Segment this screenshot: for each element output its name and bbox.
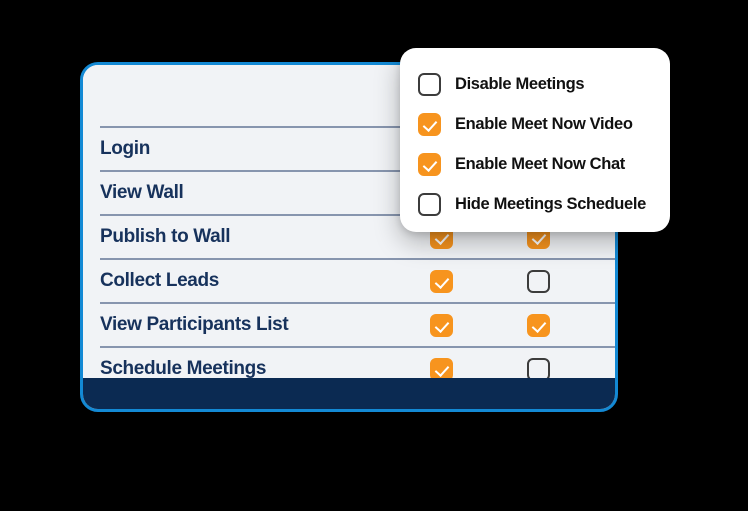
checkbox-checked-icon[interactable]: [527, 314, 550, 337]
row-label: Login: [100, 127, 393, 171]
popup-option-row[interactable]: Enable Meet Now Chat: [400, 144, 670, 184]
popup-option-row[interactable]: Disable Meetings: [400, 64, 670, 104]
permission-cell[interactable]: [393, 303, 491, 347]
checkbox-unchecked-icon[interactable]: [418, 193, 441, 216]
popup-option-label: Hide Meetings Scheduele: [455, 195, 646, 214]
popup-option-row[interactable]: Enable Meet Now Video: [400, 104, 670, 144]
checkbox-checked-icon[interactable]: [430, 314, 453, 337]
checkbox-unchecked-icon[interactable]: [418, 73, 441, 96]
permission-cell[interactable]: [490, 303, 588, 347]
row-label: View Wall: [100, 171, 393, 215]
row-label: Collect Leads: [100, 259, 393, 303]
checkbox-checked-icon[interactable]: [418, 153, 441, 176]
permission-cell[interactable]: [490, 259, 588, 303]
row-label: View Participants List: [100, 303, 393, 347]
meetings-settings-popup: Disable MeetingsEnable Meet Now VideoEna…: [400, 48, 670, 232]
checkbox-checked-icon[interactable]: [430, 270, 453, 293]
permission-cell[interactable]: [588, 303, 619, 347]
permission-cell[interactable]: [393, 259, 491, 303]
row-label: Publish to Wall: [100, 215, 393, 259]
card-footer-bar: [83, 378, 615, 409]
popup-option-row[interactable]: Hide Meetings Scheduele: [400, 184, 670, 224]
popup-option-label: Disable Meetings: [455, 75, 584, 94]
table-row: Collect Leads: [100, 259, 618, 303]
checkbox-unchecked-icon[interactable]: [527, 270, 550, 293]
checkbox-checked-icon[interactable]: [418, 113, 441, 136]
popup-option-label: Enable Meet Now Chat: [455, 155, 625, 174]
table-row: View Participants List: [100, 303, 618, 347]
popup-option-label: Enable Meet Now Video: [455, 115, 633, 134]
permission-cell[interactable]: [588, 259, 619, 303]
header-cell-blank: [100, 65, 393, 127]
